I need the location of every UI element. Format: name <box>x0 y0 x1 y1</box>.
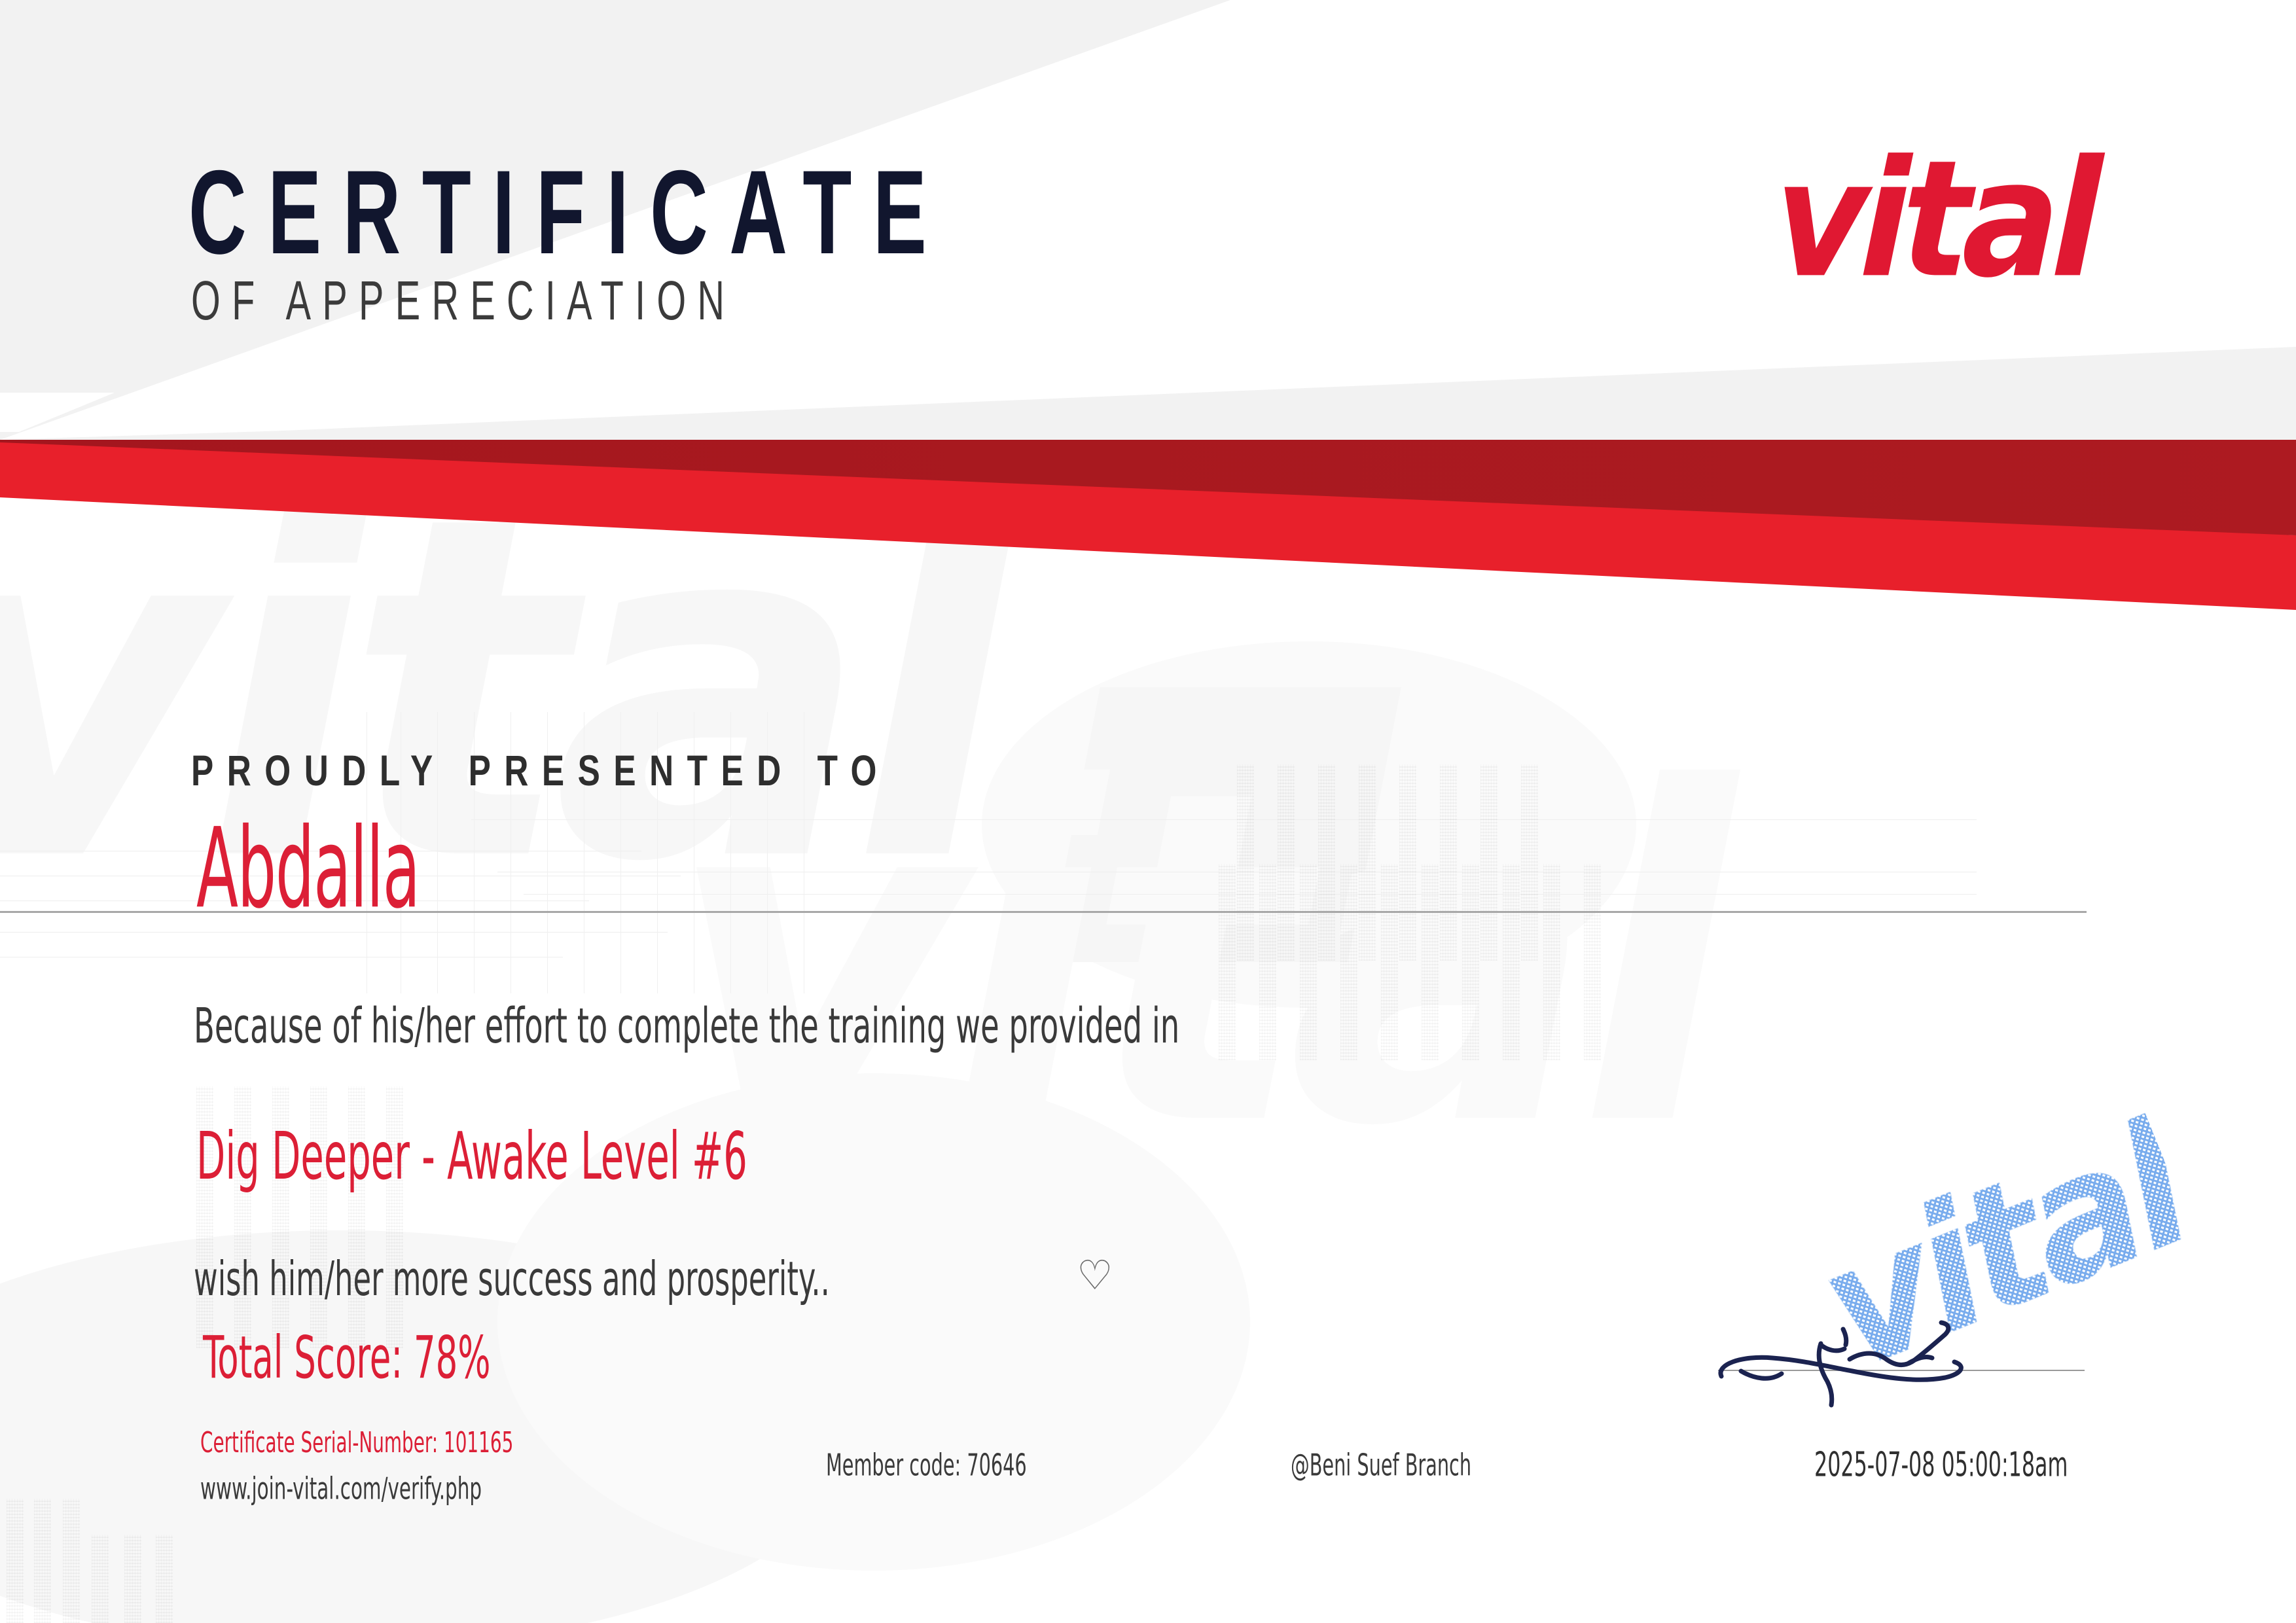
watermark-slab <box>1047 687 1401 962</box>
hairline <box>0 957 563 957</box>
security-strip <box>92 1535 109 1623</box>
security-strip <box>1503 864 1520 1060</box>
recipient-name: Abdalla <box>196 804 420 933</box>
watermark-blob-upper <box>982 641 1636 1008</box>
course-title: Dig Deeper - Awake Level #6 <box>196 1119 747 1194</box>
security-strip <box>1318 764 1335 961</box>
security-strip <box>124 1535 141 1623</box>
security-strip <box>34 1499 51 1623</box>
verify-url[interactable]: www.join-vital.com/verify.php <box>200 1471 482 1507</box>
security-strip <box>1237 764 1254 961</box>
member-code: Member code: 70646 <box>826 1448 1027 1483</box>
security-strip <box>1381 864 1398 1060</box>
security-strip <box>1300 864 1317 1060</box>
watermark-vital-right: vital <box>668 772 1717 1148</box>
vital-logo: vital <box>1772 139 2096 300</box>
security-strip <box>1259 864 1276 1060</box>
presented-to-label: PROUDLY PRESENTED TO <box>191 746 890 796</box>
security-strip <box>1440 764 1457 961</box>
total-score: Total Score: 78% <box>203 1323 491 1392</box>
security-strip <box>1480 764 1498 961</box>
hairline <box>524 894 1977 895</box>
issued-timestamp: 2025-07-08 05:00:18am <box>1814 1445 2068 1484</box>
branch-name: @Beni Suef Branch <box>1291 1448 1471 1483</box>
reason-line: Because of his/her effort to complete th… <box>194 998 1179 1055</box>
security-strip <box>1584 864 1601 1060</box>
page-subtitle: OF APPERECIATION <box>191 268 736 332</box>
security-strip <box>1219 864 1236 1060</box>
handwritten-signature <box>1702 1266 2042 1417</box>
heart-outline-icon: ♡ <box>1077 1255 1113 1296</box>
recipient-name-rule <box>0 911 2087 913</box>
page-title: CERTIFICATE <box>188 144 948 280</box>
security-strip <box>156 1535 173 1623</box>
security-strip <box>1359 764 1376 961</box>
security-strip <box>63 1499 80 1623</box>
security-strip <box>1399 764 1416 961</box>
security-strip <box>1278 764 1295 961</box>
hairline <box>471 819 1977 820</box>
security-strip <box>1462 864 1479 1060</box>
certificate-serial-number: Certificate Serial-Number: 101165 <box>200 1427 513 1459</box>
security-strip <box>1340 864 1357 1060</box>
security-strip <box>7 1499 24 1623</box>
security-strip <box>1543 864 1560 1060</box>
security-strip <box>1521 764 1538 961</box>
hairline <box>497 872 1977 872</box>
security-strip <box>1422 864 1439 1060</box>
certificate-page: vital vital <box>0 0 2296 1623</box>
wish-line: wish him/her more success and prosperity… <box>194 1251 830 1306</box>
